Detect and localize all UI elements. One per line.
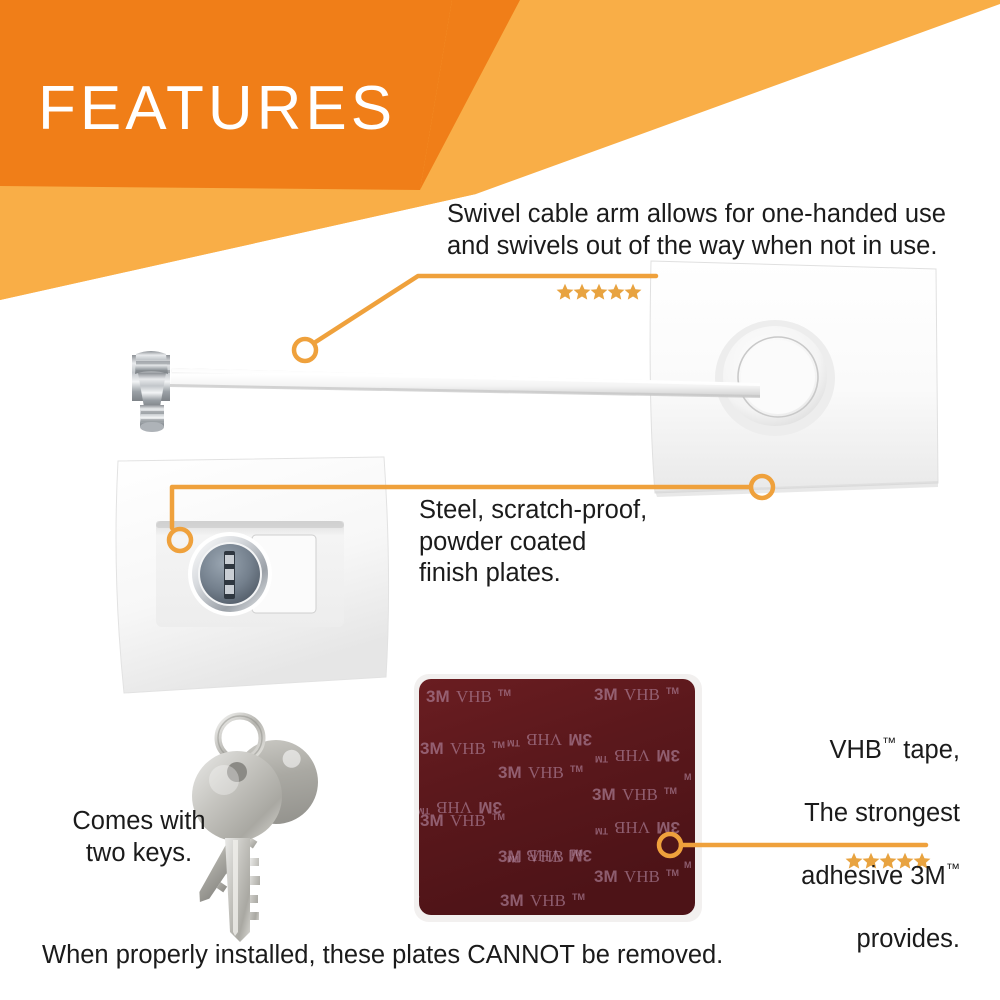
svg-text:VHB: VHB: [614, 818, 650, 837]
callout-vhb-line4: provides.: [801, 924, 960, 956]
lock-plate-body: [116, 457, 389, 693]
svg-text:3M: 3M: [568, 730, 592, 749]
svg-text:3M: 3M: [568, 846, 592, 865]
svg-text:M: M: [684, 772, 692, 782]
svg-text:3M: 3M: [498, 847, 522, 866]
svg-text:TM: TM: [666, 686, 679, 696]
svg-text:VHB: VHB: [528, 763, 564, 782]
svg-text:VHB: VHB: [526, 730, 562, 749]
lock-housing-recess: [156, 521, 344, 627]
lock-cylinder: [188, 532, 316, 616]
svg-text:3M: 3M: [412, 890, 420, 909]
svg-text:VHB: VHB: [436, 798, 472, 817]
svg-text:VHB: VHB: [450, 811, 486, 830]
vhb-tape-pad-illustration: 3MVHBTM 3MVHBTM 3MVHBTM 3MVHBTM 3MVHBTM …: [412, 672, 704, 924]
swivel-mounting-plate: [650, 261, 938, 497]
svg-text:VHB: VHB: [530, 891, 566, 910]
svg-text:3M: 3M: [426, 687, 450, 706]
svg-text:M: M: [684, 860, 692, 870]
svg-text:TM: TM: [492, 812, 505, 822]
swivel-hub: [715, 320, 835, 436]
svg-text:VHB: VHB: [456, 687, 492, 706]
vhb-watermark-group: 3MVHBTM 3MVHBTM 3MVHBTM 3MVHBTM 3MVHBTM …: [412, 685, 692, 910]
svg-text:VHB: VHB: [622, 785, 658, 804]
svg-text:VHB: VHB: [624, 867, 660, 886]
svg-text:3M: 3M: [594, 685, 618, 704]
callout-swivel-text: Swivel cable arm allows for one-handed u…: [447, 199, 946, 262]
svg-text:VHB: VHB: [614, 746, 650, 765]
svg-text:TM: TM: [595, 826, 608, 836]
svg-text:TM: TM: [664, 786, 677, 796]
rating-stars-swivel: [557, 284, 642, 300]
svg-text:TM: TM: [498, 688, 511, 698]
callout-vhb-text: VHB™ tape, The strongest adhesive 3M™ pr…: [801, 703, 960, 987]
trademark-symbol-3m: ™: [946, 862, 960, 878]
svg-text:TM: TM: [570, 764, 583, 774]
svg-text:VHB: VHB: [624, 685, 660, 704]
svg-text:3M: 3M: [656, 746, 680, 765]
svg-text:3M: 3M: [656, 818, 680, 837]
callout-steel-text: Steel, scratch-proof, powder coated fini…: [419, 495, 647, 590]
header-light-wedge-lower: [0, 182, 476, 300]
svg-text:3M: 3M: [420, 811, 444, 830]
header-banner: [0, 0, 1000, 320]
vhb-line3-pre: adhesive 3M: [801, 862, 946, 890]
svg-text:TM: TM: [570, 848, 583, 858]
callout-vhb-line1: VHB™ tape,: [801, 735, 960, 767]
svg-text:TM: TM: [507, 738, 520, 748]
svg-text:3M: 3M: [594, 867, 618, 886]
infographic-page: FEATURES: [0, 0, 1000, 1000]
svg-text:TM: TM: [417, 806, 430, 816]
swivel-cable-rod: [170, 368, 760, 398]
svg-text:TM: TM: [595, 754, 608, 764]
svg-text:3M: 3M: [500, 891, 524, 910]
svg-text:VHB: VHB: [526, 846, 562, 865]
header-dark-band-tip: [420, 0, 520, 190]
svg-text:TM: TM: [507, 854, 520, 864]
page-title: FEATURES: [38, 78, 396, 140]
vhb-pad-surface: [419, 679, 695, 915]
svg-text:3M: 3M: [592, 785, 616, 804]
svg-text:3M: 3M: [420, 739, 444, 758]
callout-keys-text: Comes with two keys.: [44, 806, 234, 869]
key-split-ring: [218, 716, 262, 760]
svg-text:VHB: VHB: [528, 847, 564, 866]
svg-text:TM: TM: [492, 740, 505, 750]
leader-line-swivel: [294, 276, 656, 361]
cable-end-fitting: [132, 351, 170, 432]
svg-text:3M: 3M: [498, 763, 522, 782]
svg-text:TM: TM: [666, 868, 679, 878]
vhb-word: VHB: [829, 736, 881, 764]
svg-text:TM: TM: [572, 892, 585, 902]
swivel-cable-arm-illustration: [110, 255, 950, 515]
trademark-symbol: ™: [882, 735, 896, 751]
keyway-slot: [224, 551, 235, 599]
callout-vhb-line3: adhesive 3M™: [801, 861, 960, 893]
vhb-line1-post: tape,: [896, 736, 960, 764]
svg-text:3M: 3M: [478, 798, 502, 817]
callout-vhb-line2: The strongest: [801, 798, 960, 830]
callout-footer-text: When properly installed, these plates CA…: [42, 940, 723, 972]
lock-finish-plate-illustration: [100, 455, 400, 705]
svg-text:VHB: VHB: [450, 739, 486, 758]
